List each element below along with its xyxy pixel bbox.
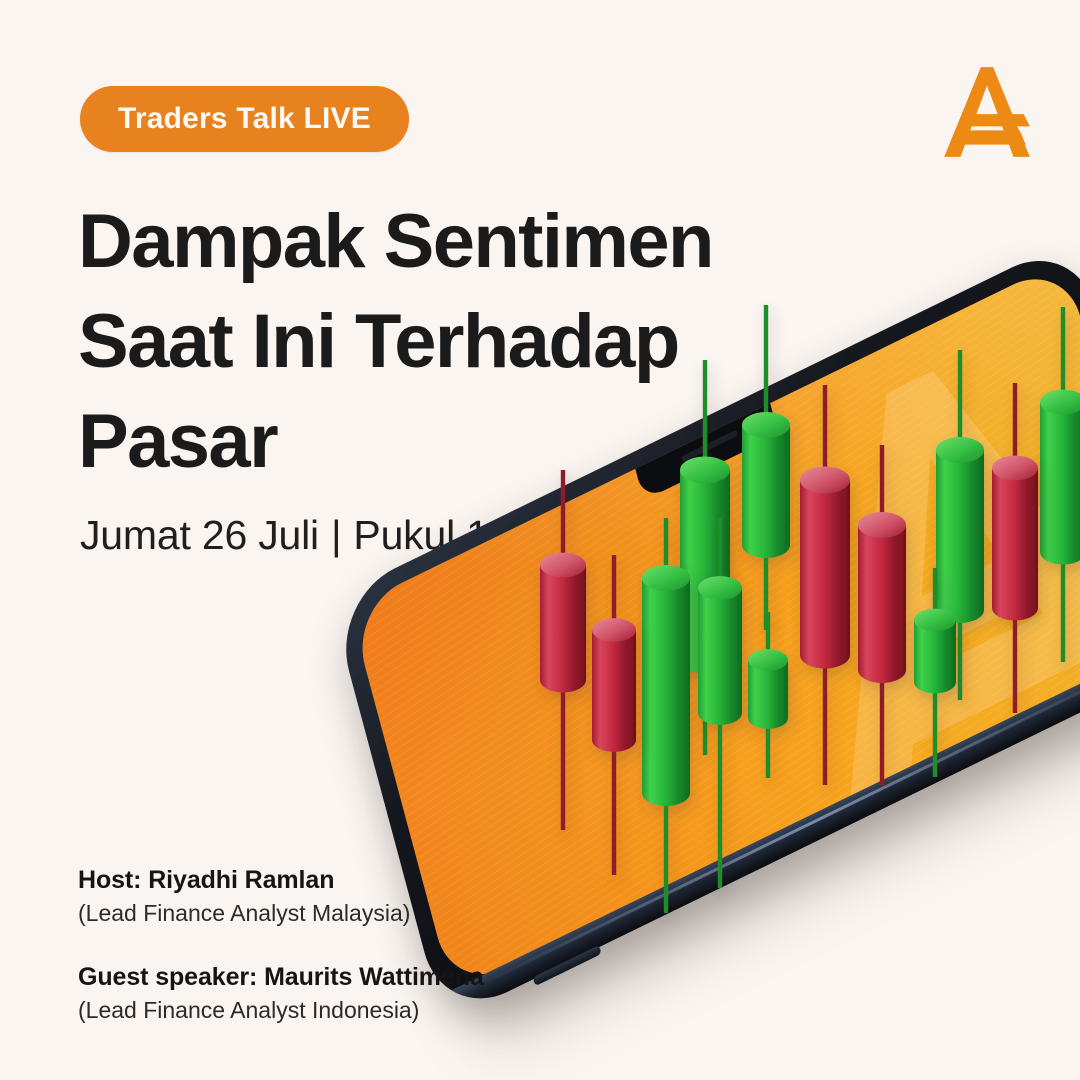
schedule-separator: | bbox=[331, 512, 341, 559]
headline-line-2: Saat Ini Terhadap bbox=[78, 292, 798, 392]
host-role: (Lead Finance Analyst Malaysia) bbox=[78, 900, 484, 927]
live-badge-label: Traders Talk LIVE bbox=[118, 102, 371, 136]
headline-line-1: Dampak Sentimen bbox=[78, 192, 798, 292]
guest-role: (Lead Finance Analyst Indonesia) bbox=[78, 997, 484, 1024]
promo-poster: Traders Talk LIVE Dampak Sentimen Saat I… bbox=[0, 0, 1080, 1080]
guest-name: Guest speaker: Maurits Wattimena bbox=[78, 963, 484, 992]
brand-a-logo-icon bbox=[936, 58, 1038, 162]
live-badge[interactable]: Traders Talk LIVE bbox=[80, 86, 409, 152]
schedule-date: Jumat 26 Juli bbox=[80, 512, 319, 558]
credits-block: Host: Riyadhi Ramlan (Lead Finance Analy… bbox=[78, 866, 484, 1024]
host-name: Host: Riyadhi Ramlan bbox=[78, 866, 484, 895]
